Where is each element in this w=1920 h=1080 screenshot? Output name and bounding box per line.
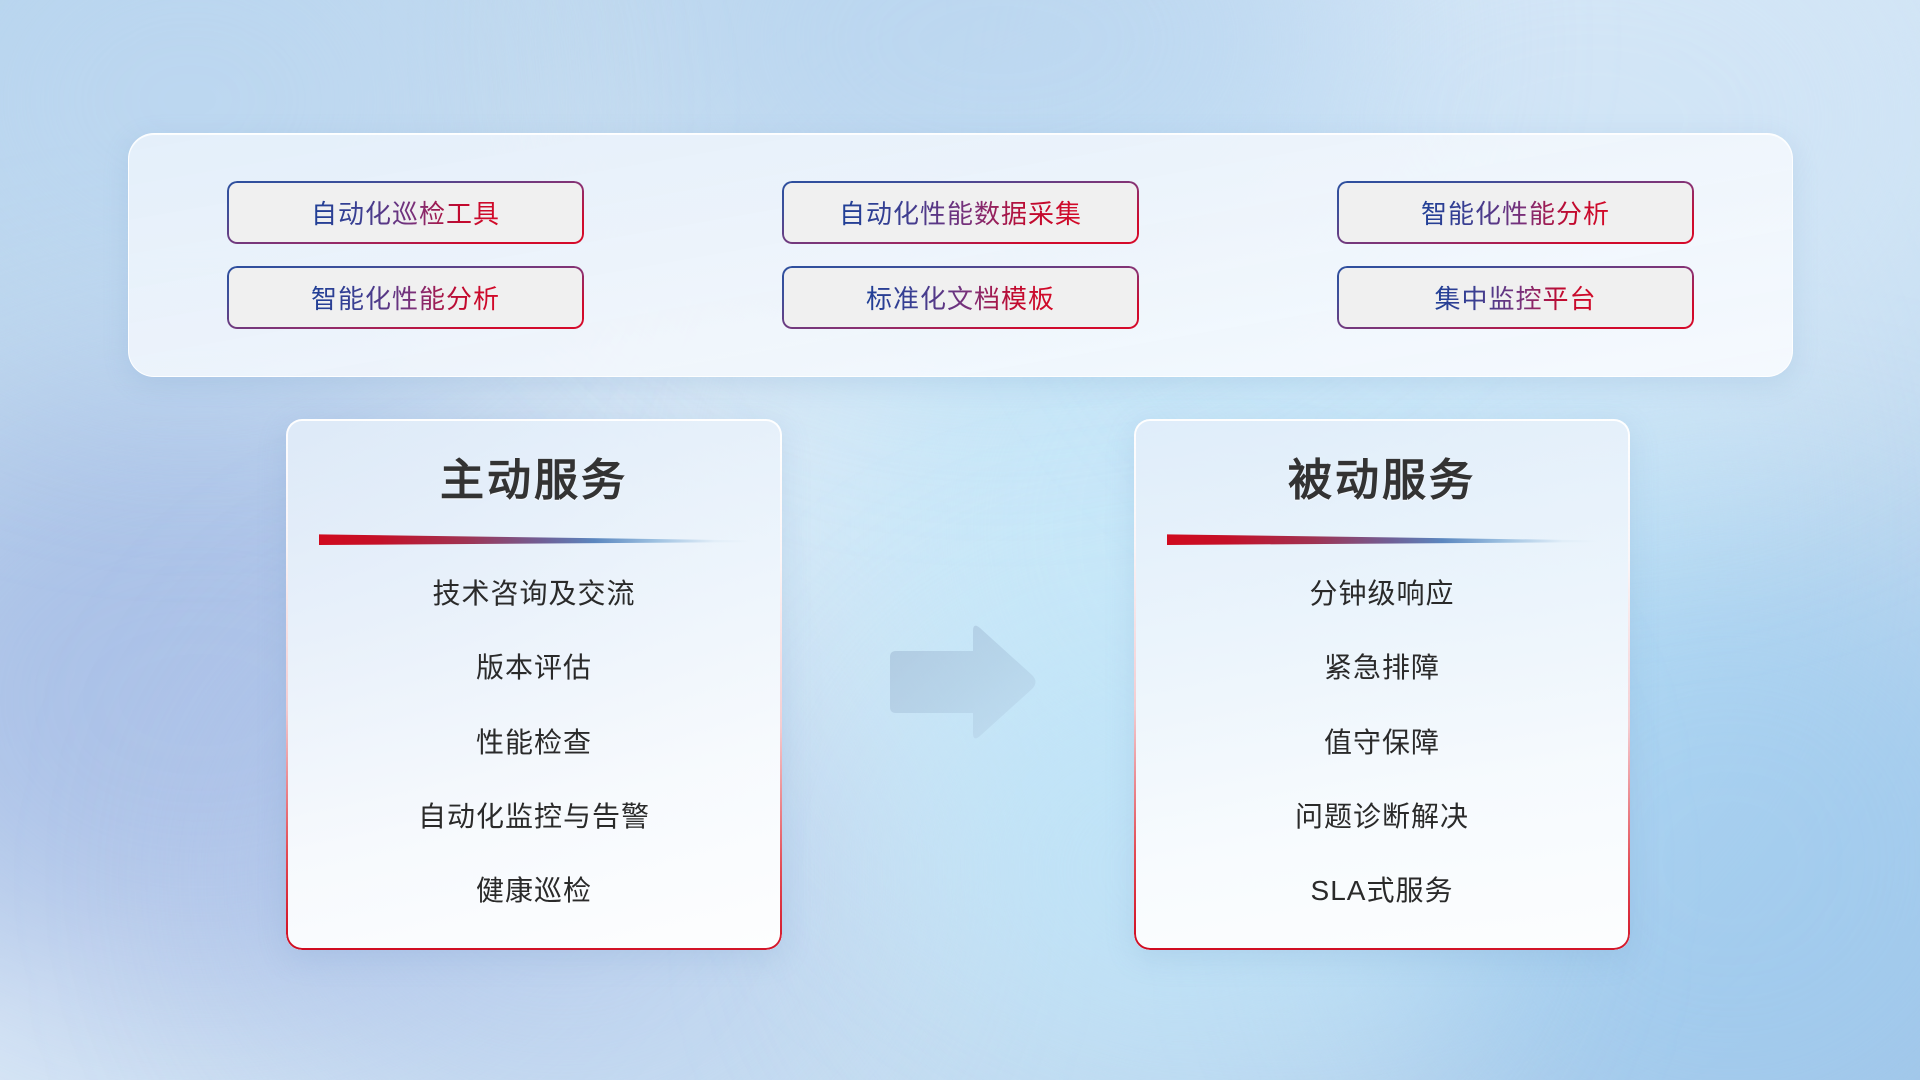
capability-tag-centralized-monitoring-platform[interactable]: 集中监控平台 xyxy=(1337,266,1694,329)
service-list-item: 问题诊断解决 xyxy=(1295,800,1469,834)
service-list-item: 值守保障 xyxy=(1324,726,1440,760)
slide-canvas: 自动化巡检工具 自动化性能数据采集 智能化性能分析 智能化性能分析 标准化文档模… xyxy=(0,0,1920,1080)
service-card-body: 主动服务 技术咨询及交流 版本评估 性能检查 自动化监控与告警 健康巡检 xyxy=(286,419,782,950)
service-list-item: SLA式服务 xyxy=(1311,874,1454,908)
title-divider xyxy=(1167,532,1597,545)
service-list-item: 紧急排障 xyxy=(1324,651,1440,685)
capability-tag-automation-inspection-tool[interactable]: 自动化巡检工具 xyxy=(227,181,584,244)
title-divider xyxy=(319,532,749,545)
service-card-body: 被动服务 分钟级响应 紧急排障 值守保障 问题诊断解决 SLA式服务 xyxy=(1134,419,1630,950)
service-card-title: 被动服务 xyxy=(1288,453,1476,508)
arrow-right-icon xyxy=(880,620,1040,745)
capability-tags-panel: 自动化巡检工具 自动化性能数据采集 智能化性能分析 智能化性能分析 标准化文档模… xyxy=(128,133,1793,377)
service-item-list: 分钟级响应 紧急排障 值守保障 问题诊断解决 SLA式服务 xyxy=(1164,567,1600,924)
service-list-item: 版本评估 xyxy=(476,651,592,685)
service-list-item: 分钟级响应 xyxy=(1309,577,1454,611)
capability-tag-intelligent-performance-analysis-2[interactable]: 智能化性能分析 xyxy=(227,266,584,329)
capability-tag-label: 自动化巡检工具 xyxy=(311,194,500,231)
service-card-title: 主动服务 xyxy=(440,453,628,508)
service-list-item: 技术咨询及交流 xyxy=(432,577,635,611)
service-list-item: 自动化监控与告警 xyxy=(418,800,650,834)
capability-tag-standardized-document-template[interactable]: 标准化文档模板 xyxy=(782,266,1139,329)
service-item-list: 技术咨询及交流 版本评估 性能检查 自动化监控与告警 健康巡检 xyxy=(316,567,752,924)
capability-tag-label: 自动化性能数据采集 xyxy=(839,194,1082,231)
capability-tag-automation-performance-data-collection[interactable]: 自动化性能数据采集 xyxy=(782,181,1139,244)
capability-tag-row-2: 智能化性能分析 标准化文档模板 集中监控平台 xyxy=(227,266,1694,329)
capability-tag-label: 集中监控平台 xyxy=(1434,279,1596,316)
capability-tag-row-1: 自动化巡检工具 自动化性能数据采集 智能化性能分析 xyxy=(227,181,1694,244)
service-list-item: 健康巡检 xyxy=(476,874,592,908)
service-list-item: 性能检查 xyxy=(476,726,592,760)
service-card-reactive[interactable]: 被动服务 分钟级响应 紧急排障 值守保障 问题诊断解决 SLA式服务 xyxy=(1134,419,1630,950)
service-card-proactive[interactable]: 主动服务 技术咨询及交流 版本评估 性能检查 自动化监控与告警 健康巡检 xyxy=(286,419,782,950)
capability-tag-label: 标准化文档模板 xyxy=(866,279,1055,316)
capability-tag-intelligent-performance-analysis[interactable]: 智能化性能分析 xyxy=(1337,181,1694,244)
capability-tag-label: 智能化性能分析 xyxy=(1421,194,1610,231)
capability-tag-label: 智能化性能分析 xyxy=(311,279,500,316)
